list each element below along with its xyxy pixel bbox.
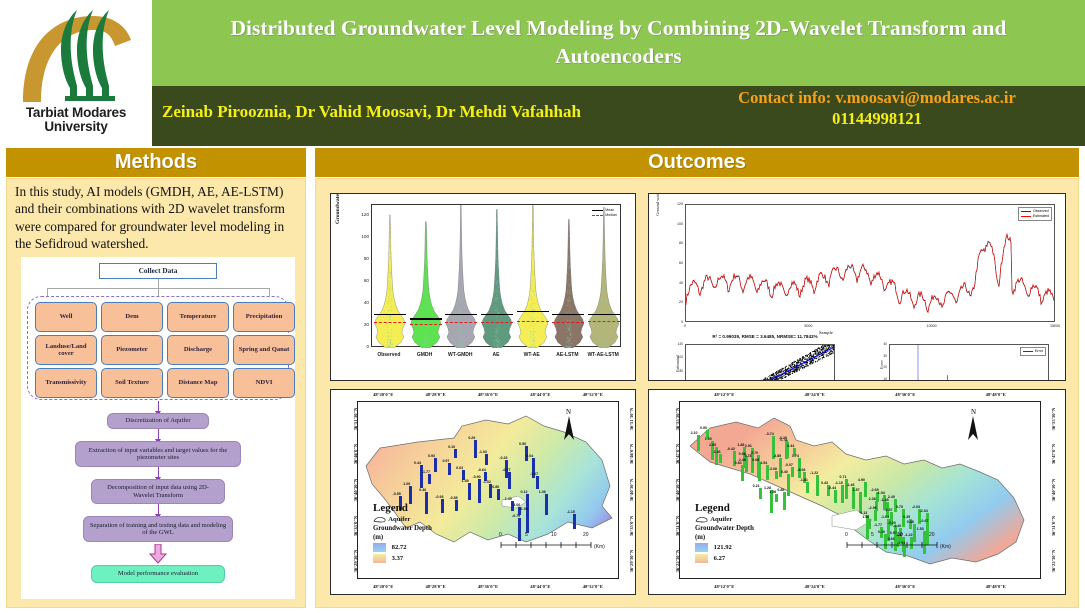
map-right-legend-max: 121.92 [695, 543, 754, 552]
map-well-value: -0.80 [491, 485, 499, 489]
error-y-tick: 30 [871, 354, 887, 358]
flow-node-collect-data: Collect Data [99, 263, 217, 279]
violin-x-tick: AE-LSTM [550, 352, 586, 358]
author-band: Zeinab Pirooznia, Dr Vahid Moosavi, Dr M… [152, 86, 1085, 146]
map-well-bar [497, 489, 500, 500]
map-well-bar [868, 519, 871, 528]
map-well-bar [806, 482, 809, 493]
map-well-bar [745, 462, 748, 472]
scatter-y-tick: 80 [669, 369, 683, 373]
map-well-value: 0.63 [456, 466, 463, 470]
map-well-value: 0.90 [700, 426, 707, 430]
map-well-bar [545, 494, 548, 515]
map-right-scale-line: (Km) [845, 541, 963, 551]
flow-input-node: Precipitation [233, 302, 295, 332]
map-well-value: -1.48 [880, 498, 888, 502]
error-y-tick: 40 [871, 342, 887, 346]
map-well-value: 0.75 [896, 505, 903, 509]
map-lon-label: 48°24'0"E [791, 392, 839, 397]
violin-ylabel: Groundwater Depth (m) [335, 193, 341, 224]
author-list: Zeinab Pirooznia, Dr Vahid Moosavi, Dr M… [162, 102, 682, 122]
map-left-north-arrow-icon [563, 416, 575, 445]
violin-shape [479, 205, 515, 348]
map-lon-label: 48°48'0"E [972, 392, 1020, 397]
map-well-value: -3.06 [512, 503, 520, 507]
map-lat-label: 36°55'30"N [675, 407, 680, 430]
map-well-bar [791, 467, 794, 478]
map-lon-label: 48°36'0"E [881, 584, 929, 589]
map-well-value: 0.68 [752, 458, 759, 462]
aquifer-polygon-icon [373, 516, 388, 523]
map-well-value: -1.94 [877, 491, 885, 495]
scatter-y-tick: 120 [669, 342, 683, 346]
map-left-north-label: N [566, 408, 571, 416]
map-well-value: -1.40 [893, 524, 901, 528]
map-well-value: 2.36 [713, 450, 720, 454]
map-lat-label: 36°40'30"N [1051, 479, 1056, 502]
map-lat-label: 36°40'30"N [629, 479, 634, 502]
map-lat-label: 36°22'30"N [1051, 550, 1056, 573]
timeseries-y-tick: 80 [667, 241, 683, 245]
map-well-value: -5.08 [797, 468, 805, 472]
violin-shape [443, 205, 479, 348]
flow-input-node: Dem [101, 302, 163, 332]
error-legend: Error [1020, 347, 1046, 356]
timeseries-legend-estimated: Estimated [1021, 214, 1049, 219]
violin-plot-area: Mean Median [371, 204, 621, 347]
map-lon-label: 48°36'0"E [464, 584, 512, 589]
flow-node-step-2: Extraction of input variables and target… [75, 441, 241, 467]
timeseries-plot-area: Observed Estimated [685, 204, 1055, 322]
map-well-value: 4.90 [858, 478, 865, 482]
violin-median-line [517, 321, 549, 322]
violin-mean-line [445, 314, 477, 316]
map-right-north-arrow-icon [967, 416, 979, 445]
map-well-bar [434, 458, 437, 472]
map-well-value: -0.44 [828, 486, 836, 490]
map-well-value: 2.91 [745, 444, 752, 448]
map-well-bar [697, 435, 700, 451]
map-well-value: -1.64 [881, 515, 889, 519]
map-well-value: 0.40 [781, 470, 788, 474]
map-well-value: -2.96 [868, 506, 876, 510]
map-right-scalebar: 0 5 10 20 (Km) [845, 532, 963, 551]
map-right-figure: 0.902.101.002.652.36-0.421.880.982.912.7… [648, 389, 1066, 595]
timeseries-y-tick: 120 [667, 202, 683, 206]
map-well-value: -0.64 [478, 468, 486, 472]
map-well-value: 1.56 [862, 515, 869, 519]
map-lat-label: 36°55'30"N [1051, 407, 1056, 430]
map-well-value: -1.81 [800, 478, 808, 482]
map-right-legend: Legend Aquifer Groundwater Depth (m) 121… [695, 502, 754, 563]
map-right-legend-depth-title: Groundwater Depth [695, 525, 754, 532]
poster-title: Distributed Groundwater Level Modeling b… [179, 15, 1059, 71]
map-well-bar [526, 511, 529, 532]
map-well-value: 2.10 [691, 431, 698, 435]
violin-x-tick: AE [478, 352, 514, 358]
map-well-value: 0.10 [448, 445, 455, 449]
map-lat-label: 36°31'0"N [675, 515, 680, 535]
error-plot-area: Error [889, 344, 1049, 381]
map-well-value: 0.88 [777, 488, 784, 492]
violin-x-tick: WT-GMDH [442, 352, 478, 358]
scatter-plot-area [685, 344, 835, 381]
map-well-bar [834, 490, 837, 504]
map-well-value: 1.09 [403, 482, 410, 486]
map-well-bar [816, 475, 819, 497]
error-ylabel: Error [879, 329, 884, 369]
map-well-bar [864, 482, 867, 497]
map-well-value: 0.71 [839, 475, 846, 479]
map-lat-label: 36°47'0"N [675, 444, 680, 464]
color-ramp-high-icon [695, 543, 708, 552]
map-well-value: 0.29 [468, 436, 475, 440]
map-well-bar [741, 465, 744, 480]
map-lon-label: 48°24'0"E [791, 584, 839, 589]
svg-text:(Km): (Km) [940, 544, 951, 549]
map-well-bar [455, 500, 458, 511]
violin-x-tick: WT-AE-LSTM [585, 352, 621, 358]
map-lon-label: 48°44'0"E [516, 584, 564, 589]
map-lat-label: 36°51'30"N [629, 407, 634, 430]
flow-node-step-3: Decomposition of input data using 2D- Wa… [91, 479, 225, 504]
violin-y-tick: 80 [353, 256, 369, 261]
timeseries-y-tick: 20 [667, 300, 683, 304]
tarbiat-modares-logo-icon [15, 2, 137, 106]
map-well-value: 0.21 [753, 484, 760, 488]
map-lon-label: 48°36'0"E [881, 392, 929, 397]
flow-arrow-1 [158, 401, 159, 412]
map-lon-label: 48°12'0"E [700, 392, 748, 397]
map-well-value: -0.77 [502, 468, 510, 472]
poster-root: Tarbiat Modares University Distributed G… [0, 0, 1085, 613]
map-well-value: 1.58 [769, 490, 776, 494]
scatter-y-tick: 100 [669, 355, 683, 359]
methodology-flowchart: Collect Data WellDemTemperaturePrecipita… [21, 257, 295, 599]
map-well-value: 1.49 [505, 497, 512, 501]
timeseries-legend: Observed Estimated [1018, 207, 1052, 221]
violin-median-line [552, 322, 584, 323]
map-well-value: 1.00 [705, 437, 712, 441]
violin-legend: Mean Median [592, 208, 617, 219]
violin-y-tick: 60 [353, 278, 369, 283]
map-right-scale-ticks: 0 5 10 20 [845, 532, 949, 540]
map-well-value: 0.75 [780, 438, 787, 442]
timeseries-y-tick: 40 [667, 281, 683, 285]
map-well-bar [573, 514, 576, 529]
violin-mean-line [552, 314, 584, 316]
map-well-value: -3.85 [773, 454, 781, 458]
violin-shape [408, 205, 444, 348]
methods-paragraph: In this study, AI models (GMDH, AE, AE-L… [15, 183, 301, 253]
flow-input-node: Piezometer [101, 335, 163, 365]
color-ramp-high-icon [373, 543, 386, 552]
violin-x-tick: WT-AE [514, 352, 550, 358]
flow-connector-branch-right [269, 288, 270, 296]
map-well-value: -0.85 [449, 496, 457, 500]
map-lat-label: 36°46'0"N [629, 444, 634, 464]
map-lon-label: 48°28'0"E [412, 392, 460, 397]
color-ramp-low-icon [373, 554, 386, 563]
flow-input-node: Distance Map [167, 368, 229, 398]
map-well-bar [468, 483, 471, 501]
timeseries-curve [686, 205, 1055, 322]
map-lat-label: 36°29'30"N [353, 550, 358, 573]
map-right-north-label: N [971, 408, 976, 416]
violin-mean-line [517, 311, 549, 313]
map-well-bar [775, 471, 778, 479]
map-well-value: 1.74 [792, 454, 799, 458]
violin-y-tick: 20 [353, 322, 369, 327]
map-well-value: 1.54 [760, 461, 767, 465]
map-well-value: 2.70 [751, 451, 758, 455]
map-well-value: 0.35 [903, 515, 910, 519]
map-well-value: -0.42 [727, 447, 735, 451]
map-well-bar [783, 492, 786, 510]
map-lon-label: 48°28'0"E [412, 584, 460, 589]
poster-header: Tarbiat Modares University Distributed G… [0, 0, 1085, 146]
map-lon-label: 48°12'0"E [700, 584, 748, 589]
flow-input-node: Discharge [167, 335, 229, 365]
contact-info: Contact info: v.moosavi@modares.ac.ir 01… [677, 88, 1077, 129]
map-well-value: -0.90 [472, 475, 480, 479]
section-header-outcomes: Outcomes [315, 148, 1079, 177]
flow-input-node: Transmissivity [35, 368, 97, 398]
flow-input-node: Well [35, 302, 97, 332]
violin-legend-median: Median [592, 213, 617, 218]
map-well-value: 0.97 [442, 459, 449, 463]
map-well-value: -1.46 [846, 483, 854, 487]
map-lon-label: 48°52'0"E [569, 584, 617, 589]
violin-x-tick: Observed [371, 352, 407, 358]
map-right-legend-aquifer: Aquifer [695, 516, 754, 523]
map-left-scalebar: 0 5 10 20 (Km) [499, 532, 617, 551]
map-well-value: -1.10 [835, 481, 843, 485]
flow-connector-vertical [158, 279, 159, 288]
map-well-bar [841, 485, 844, 504]
violin-y-tick: 120 [353, 212, 369, 217]
violin-y-tick: 40 [353, 300, 369, 305]
violin-median-line [588, 321, 620, 322]
violin-mean-line [374, 314, 406, 316]
map-well-value: 2.40 [888, 495, 895, 499]
logo-wordmark: Tarbiat Modares University [26, 106, 126, 133]
timeseries-y-tick: 100 [667, 222, 683, 226]
violin-mean-line [410, 318, 442, 320]
methods-panel: In this study, AI models (GMDH, AE, AE-L… [6, 178, 306, 608]
map-left-legend-aquifer: Aquifer [373, 516, 432, 523]
timeseries-x-tick: 10000 [923, 324, 941, 328]
map-lat-label: 36°51'30"N [353, 407, 358, 430]
error-legend-entry: Error [1023, 349, 1043, 354]
map-well-bar [845, 479, 848, 499]
contact-email: Contact info: v.moosavi@modares.ac.ir [677, 88, 1077, 109]
map-left-scale-ticks: 0 5 10 20 [499, 532, 603, 540]
flow-connector-branch-left [47, 288, 48, 296]
violin-mean-line [481, 314, 513, 316]
map-left-scale-line: (Km) [499, 541, 617, 551]
map-well-value: 0.46 [419, 488, 426, 492]
map-lat-label: 36°35'0"N [353, 515, 358, 535]
map-well-value: -0.93 [435, 495, 443, 499]
map-well-value: 1.53 [917, 527, 924, 531]
violin-median-line [481, 322, 513, 323]
color-ramp-low-icon [695, 554, 708, 563]
svg-text:(Km): (Km) [594, 544, 605, 549]
timeseries-figure: Ground water Depth (m) Observed Estimate… [648, 193, 1066, 381]
map-lon-label: 48°20'0"E [359, 392, 407, 397]
title-band: Distributed Groundwater Level Modeling b… [152, 0, 1085, 86]
map-lon-label: 48°44'0"E [516, 392, 564, 397]
flow-arrow-4 [158, 504, 159, 515]
map-well-value: -0.07 [785, 463, 793, 467]
map-well-value: -3.74 [766, 432, 774, 436]
map-well-value: -1.77 [874, 523, 882, 527]
map-well-value: -1.98 [520, 507, 528, 511]
contact-phone: 01144998121 [677, 109, 1077, 130]
map-well-bar [428, 474, 431, 484]
map-lat-label: 36°29'30"N [629, 550, 634, 573]
methods-heading: Methods [115, 151, 197, 174]
map-right-legend-unit: (m) [695, 534, 754, 541]
map-left-legend: Legend Aquifer Groundwater Depth (m) 82.… [373, 502, 432, 563]
violin-y-tick: 100 [353, 234, 369, 239]
map-well-bar [787, 474, 790, 496]
flow-arrow-3 [158, 467, 159, 478]
scatter-points [686, 345, 835, 381]
flow-node-final: Model performance evaluation [91, 565, 225, 583]
map-well-value: -1.03 [479, 450, 487, 454]
map-well-value: -0.26 [499, 456, 507, 460]
map-well-bar [454, 449, 457, 458]
violin-median-line [445, 322, 477, 323]
map-well-value: 0.84 [735, 461, 742, 465]
map-well-bar [485, 454, 488, 465]
map-well-value: 2.38 [869, 497, 876, 501]
map-left-legend-min: 3.37 [373, 554, 432, 563]
map-right-legend-min: 6.27 [695, 554, 754, 563]
map-left-legend-max: 82.72 [373, 543, 432, 552]
outcomes-heading: Outcomes [648, 151, 746, 174]
map-well-bar [874, 510, 877, 521]
map-left-legend-unit: (m) [373, 534, 432, 541]
university-logo: Tarbiat Modares University [0, 0, 152, 146]
aquifer-polygon-icon [695, 516, 710, 523]
outcomes-panel: Groundwater Depth (m) Mean Median 020406… [315, 178, 1079, 608]
map-well-value: 0.43 [821, 481, 828, 485]
map-left-legend-depth-title: Groundwater Depth [373, 525, 432, 532]
timeseries-x-tick: 5000 [799, 324, 817, 328]
timeseries-ylabel: Ground water Depth (m) [655, 193, 660, 216]
map-lon-label: 48°36'0"E [464, 392, 512, 397]
timeseries-x-tick: 15000 [1046, 324, 1064, 328]
violin-y-tick: 0 [353, 344, 369, 349]
map-left-figure: 0.930.100.290.440.97-1.03-0.260.50-1.770… [330, 389, 636, 595]
map-well-value: 0.44 [414, 461, 421, 465]
map-lat-label: 36°40'30"N [675, 479, 680, 502]
map-well-bar [420, 465, 423, 488]
map-lat-label: 36°47'0"N [1051, 444, 1056, 464]
map-lat-label: 36°22'30"N [675, 550, 680, 573]
map-well-value: -2.03 [912, 505, 920, 509]
map-well-value: 0.78 [745, 454, 752, 458]
error-y-tick: 20 [871, 365, 887, 369]
violin-shape [515, 205, 551, 348]
map-well-value: 0.50 [519, 442, 526, 446]
map-well-bar [441, 499, 444, 513]
map-right-legend-title: Legend [695, 502, 754, 514]
map-lon-label: 48°48'0"E [972, 584, 1020, 589]
timeseries-y-tick: 60 [667, 261, 683, 265]
violin-median-line [374, 322, 406, 323]
map-well-value: -3.08 [769, 467, 777, 471]
map-lat-label: 36°40'30"N [353, 479, 358, 502]
flow-input-node: Soil Texture [101, 368, 163, 398]
flow-node-step-1: Discretization of Aquifer [107, 413, 209, 429]
map-left-legend-title: Legend [373, 502, 432, 514]
violin-shape [372, 205, 408, 348]
map-lat-label: 36°31'0"N [1051, 515, 1056, 535]
violin-x-tick: GMDH [407, 352, 443, 358]
logo-line-1: Tarbiat Modares [26, 106, 126, 120]
map-well-bar [474, 440, 477, 458]
map-well-bar [775, 494, 778, 502]
flow-input-node: Landuse/Land cover [35, 335, 97, 365]
section-header-methods: Methods [6, 148, 306, 177]
map-well-value: -2.57 [884, 508, 892, 512]
map-lat-label: 36°35'0"N [629, 515, 634, 535]
map-well-value: -0.67 [920, 519, 928, 523]
map-well-value: -2.04 [920, 509, 928, 513]
map-well-value: -1.27 [530, 472, 538, 476]
map-well-bar [759, 488, 762, 500]
logo-line-2: University [26, 120, 126, 134]
map-well-value: -1.15 [567, 510, 575, 514]
map-lon-label: 48°20'0"E [359, 584, 407, 589]
flow-input-node: Temperature [167, 302, 229, 332]
map-well-value: -1.02 [483, 480, 491, 484]
flow-arrow-2 [158, 429, 159, 440]
map-well-value: 0.88 [907, 520, 914, 524]
violin-shape [586, 205, 622, 348]
violin-plot-figure: Groundwater Depth (m) Mean Median 020406… [330, 193, 636, 381]
map-well-value: 2.65 [709, 443, 716, 447]
map-well-value: -0.79 [512, 514, 520, 518]
map-well-value: 0.44 [787, 444, 794, 448]
map-well-value: 1.57 [853, 488, 860, 492]
flow-big-arrow-icon [149, 544, 167, 564]
violin-mean-line [588, 314, 620, 316]
map-well-bar [478, 479, 481, 503]
map-well-value: 1.36 [539, 490, 546, 494]
map-well-value: -1.22 [810, 471, 818, 475]
map-well-value: -0.55 [393, 492, 401, 496]
error-y-tick: 10 [871, 377, 887, 381]
map-well-bar [719, 454, 722, 463]
map-well-bar [508, 472, 511, 489]
flow-input-node: Spring and Qanat [233, 335, 295, 365]
flow-connector-branch-mid [158, 288, 159, 296]
violin-shape [551, 205, 587, 348]
map-well-bar [536, 476, 539, 489]
map-well-bar [859, 492, 862, 512]
flow-node-step-4: Separation of training and testing data … [83, 516, 233, 542]
map-well-value: 1.88 [737, 443, 744, 447]
map-well-value: -1.77 [422, 470, 430, 474]
map-well-value: 0.12 [520, 490, 527, 494]
violin-median-line [410, 324, 442, 325]
map-well-bar [448, 463, 451, 475]
